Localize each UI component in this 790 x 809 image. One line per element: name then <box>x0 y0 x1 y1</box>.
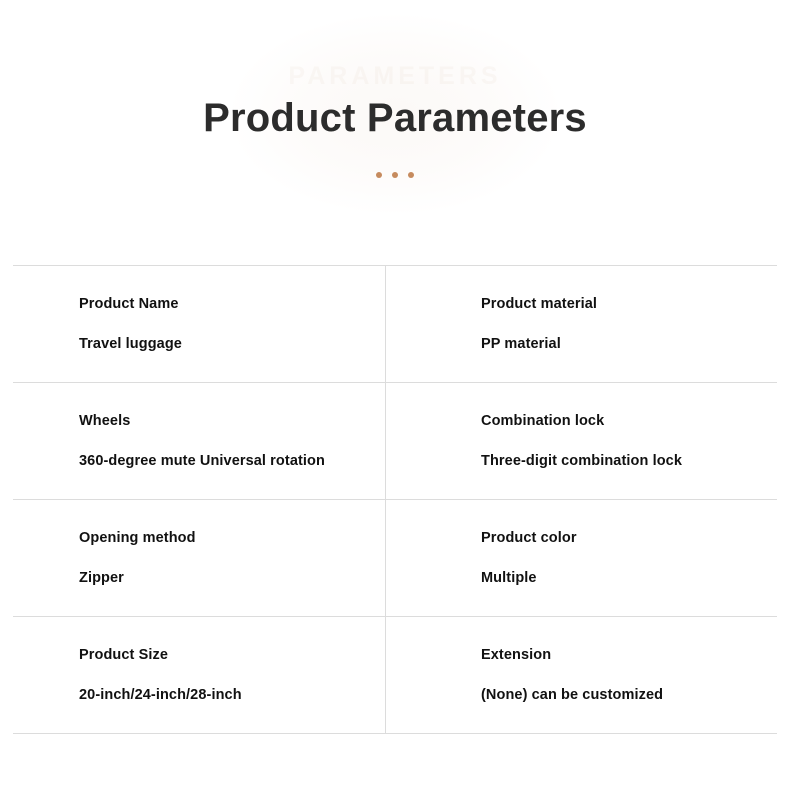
spec-cell-extension: Extension (None) can be customized <box>386 617 777 733</box>
spec-value: Zipper <box>79 571 385 586</box>
spec-value: 20-inch/24-inch/28-inch <box>79 688 385 703</box>
spec-table: Product Name Travel luggage Product mate… <box>13 265 777 734</box>
page-title: Product Parameters <box>0 98 790 138</box>
dot-icon-2 <box>392 172 398 178</box>
spec-value: (None) can be customized <box>481 688 777 703</box>
spec-cell-product-material: Product material PP material <box>386 266 777 382</box>
spec-label: Product material <box>481 297 777 312</box>
spec-cell-combination-lock: Combination lock Three-digit combination… <box>386 383 777 499</box>
spec-value: PP material <box>481 337 777 352</box>
table-row: Product Name Travel luggage Product mate… <box>13 266 777 383</box>
spec-label: Combination lock <box>481 414 777 429</box>
spec-value: 360-degree mute Universal rotation <box>79 454 385 469</box>
spec-label: Wheels <box>79 414 385 429</box>
page-header: Product Parameters <box>0 0 790 179</box>
spec-label: Product Name <box>79 297 385 312</box>
spec-value: Multiple <box>481 571 777 586</box>
spec-label: Product Size <box>79 648 385 663</box>
table-row: Product Size 20-inch/24-inch/28-inch Ext… <box>13 617 777 734</box>
product-parameters-page: PARAMETERS Product Parameters Product Na… <box>0 0 790 809</box>
spec-label: Opening method <box>79 531 385 546</box>
spec-value: Three-digit combination lock <box>481 454 777 469</box>
spec-label: Product color <box>481 531 777 546</box>
decorative-dots <box>0 171 790 179</box>
spec-cell-opening-method: Opening method Zipper <box>13 500 386 616</box>
spec-value: Travel luggage <box>79 337 385 352</box>
spec-label: Extension <box>481 648 777 663</box>
dot-icon-1 <box>376 172 382 178</box>
table-row: Wheels 360-degree mute Universal rotatio… <box>13 383 777 500</box>
table-row: Opening method Zipper Product color Mult… <box>13 500 777 617</box>
spec-cell-product-color: Product color Multiple <box>386 500 777 616</box>
dot-icon-3 <box>408 172 414 178</box>
spec-cell-product-size: Product Size 20-inch/24-inch/28-inch <box>13 617 386 733</box>
spec-cell-wheels: Wheels 360-degree mute Universal rotatio… <box>13 383 386 499</box>
spec-cell-product-name: Product Name Travel luggage <box>13 266 386 382</box>
